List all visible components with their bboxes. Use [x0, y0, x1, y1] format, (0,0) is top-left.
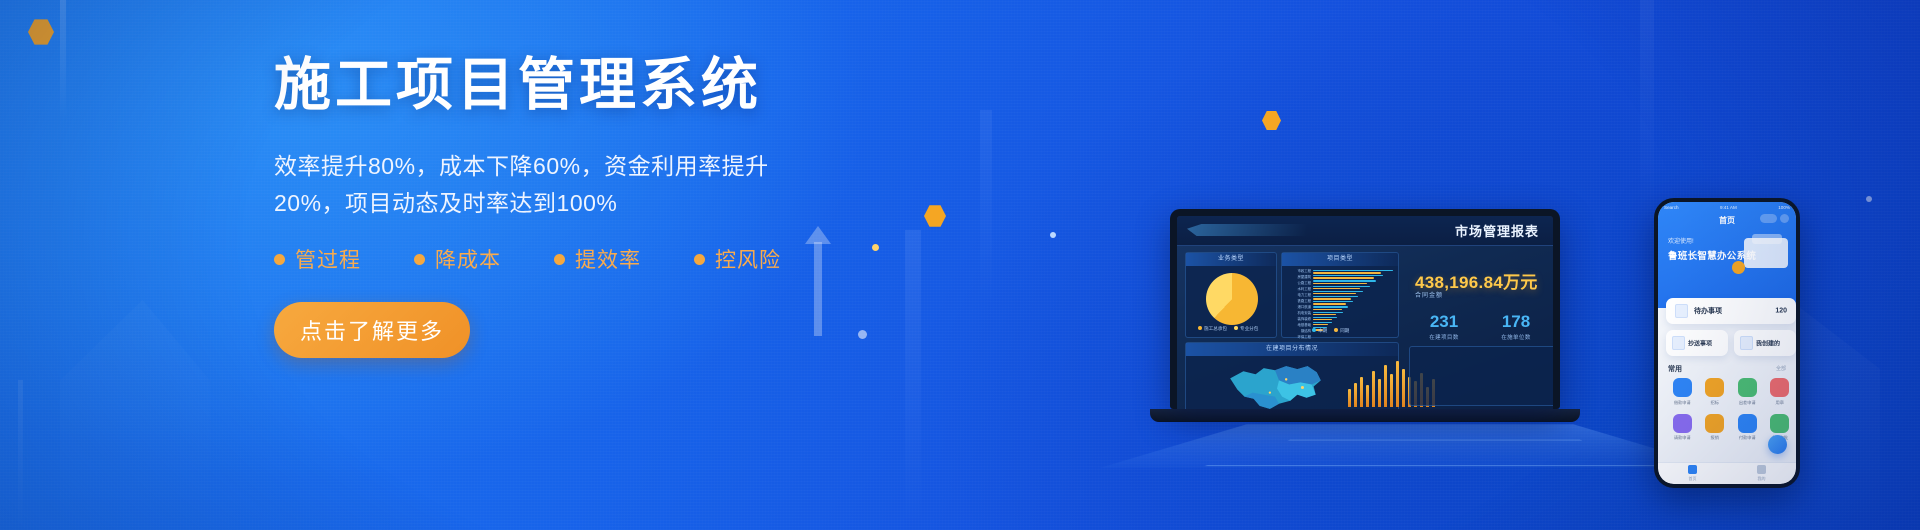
- page-title: 施工项目管理系统: [274, 54, 894, 118]
- deco-bar: [18, 380, 23, 530]
- hbar-category-label: 电力工程: [1285, 294, 1311, 298]
- plus-doc-icon: [1740, 336, 1753, 350]
- compose-fab-button[interactable]: [1768, 435, 1787, 454]
- vbar: [1390, 374, 1393, 407]
- vbar: [1354, 383, 1357, 407]
- hbar-row: [1313, 312, 1393, 316]
- app-icon: [1705, 414, 1724, 433]
- panel-business-type: 业务类型 施工总承包 专业分包: [1185, 252, 1277, 338]
- bullet-dot-icon: [554, 254, 565, 265]
- learn-more-button[interactable]: 点击了解更多: [274, 302, 470, 358]
- quick-card-label: 抄送事项: [1688, 339, 1712, 348]
- tab-label: 首页: [1689, 476, 1697, 482]
- panel-project-type: 项目类型 市政工程房屋建筑公路工程水利工程电力工程铁路工程港口航道机电安装装饰装…: [1281, 252, 1399, 338]
- dashboard-title: 市场管理报表: [1455, 221, 1539, 240]
- dashboard: 市场管理报表 业务类型 施工总承包 专业分包 项目类型 市政工程房屋建筑公路工程…: [1177, 216, 1553, 409]
- quick-card-cc[interactable]: 抄送事项: [1666, 330, 1728, 356]
- vbar: [1384, 365, 1387, 407]
- app-item[interactable]: 报销: [1699, 414, 1732, 442]
- vbar: [1396, 361, 1399, 407]
- phone-illustration: [1732, 234, 1788, 276]
- quick-card-label: 我创建的: [1756, 339, 1780, 348]
- app-label: 请款申请: [1674, 435, 1691, 441]
- hbar-row: [1313, 291, 1393, 295]
- deco-cube: [60, 300, 210, 530]
- deco-hexagon: [924, 204, 946, 228]
- phone-mockup: Search 9:41 AM 100% 首页 欢迎使用! 鲁班长智慧办公系统 待…: [1654, 198, 1800, 488]
- kpi-item: 231 在建项目数: [1413, 312, 1475, 341]
- hbar-row: [1313, 275, 1393, 279]
- pie-chart: [1206, 273, 1258, 325]
- feature-item: 控风险: [694, 244, 834, 274]
- hbar-row: [1313, 286, 1393, 290]
- hbar-category-label: 公路工程: [1285, 282, 1311, 286]
- device-stage: 市场管理报表 业务类型 施工总承包 专业分包 项目类型 市政工程房屋建筑公路工程…: [1160, 88, 1800, 508]
- hbar-row: [1313, 301, 1393, 305]
- vbar: [1366, 385, 1369, 407]
- app-label: 出差申请: [1739, 400, 1756, 406]
- feature-label: 管过程: [295, 244, 361, 274]
- app-icon: [1738, 378, 1757, 397]
- deco-bar: [980, 110, 992, 310]
- hbar-row: [1313, 322, 1393, 326]
- hbar-category-label: 机电安装: [1285, 312, 1311, 316]
- todo-card[interactable]: 待办事项 120: [1666, 298, 1796, 324]
- kpi-value: 231: [1413, 312, 1475, 332]
- kpi-label: 在施单位数: [1485, 333, 1547, 341]
- app-icon: [1673, 378, 1692, 397]
- legend-item: 专业分包: [1234, 326, 1258, 332]
- feature-item: 降成本: [414, 244, 554, 274]
- hbar-category-label: 市政工程: [1285, 270, 1311, 274]
- feature-label: 降成本: [435, 244, 501, 274]
- hbar-row: [1313, 270, 1393, 274]
- app-item[interactable]: 用章: [1764, 378, 1797, 406]
- bullet-dot-icon: [694, 254, 705, 265]
- vbar: [1402, 369, 1405, 407]
- laptop-mockup: 市场管理报表 业务类型 施工总承包 专业分包 项目类型 市政工程房屋建筑公路工程…: [1170, 209, 1560, 422]
- hero-content: 施工项目管理系统 效率提升80%，成本下降60%，资金利用率提升20%，项目动态…: [274, 54, 894, 358]
- pie-legend: 施工总承包 专业分包: [1198, 326, 1258, 332]
- panel-title: 在建项目分布情况: [1186, 343, 1398, 356]
- app-grid: 借款申请招标出差申请用章请款申请报销付款申请合同审批: [1666, 378, 1796, 441]
- kpi-label: 在建项目数: [1413, 333, 1475, 341]
- app-label: 报销: [1711, 435, 1719, 441]
- tab-home[interactable]: 首页: [1688, 465, 1697, 482]
- hbar-category-label: 铁路工程: [1285, 300, 1311, 304]
- phone-welcome: 欢迎使用!: [1668, 236, 1694, 245]
- hbar-category-labels: 市政工程房屋建筑公路工程水利工程电力工程铁路工程港口航道机电安装装饰装修地基基础…: [1285, 270, 1311, 339]
- hero-banner: 施工项目管理系统 效率提升80%，成本下降60%，资金利用率提升20%，项目动态…: [0, 0, 1920, 530]
- status-carrier: Search: [1664, 205, 1679, 210]
- app-icon: [1738, 414, 1757, 433]
- bullet-dot-icon: [414, 254, 425, 265]
- hbar-category-label: 房屋建筑: [1285, 276, 1311, 280]
- phone-screen: Search 9:41 AM 100% 首页 欢迎使用! 鲁班长智慧办公系统 待…: [1658, 202, 1796, 484]
- home-icon: [1688, 465, 1697, 474]
- app-item[interactable]: 付款申请: [1731, 414, 1764, 442]
- section-title: 常用: [1668, 364, 1682, 374]
- more-icon[interactable]: [1760, 214, 1777, 223]
- china-map-svg: [1212, 359, 1342, 409]
- tab-profile[interactable]: 我的: [1757, 465, 1766, 482]
- app-icon: [1673, 414, 1692, 433]
- app-label: 招标: [1711, 400, 1719, 406]
- app-item[interactable]: 借款申请: [1666, 378, 1699, 406]
- feature-label: 控风险: [715, 244, 781, 274]
- tab-label: 我的: [1758, 476, 1766, 482]
- feature-list: 管过程 降成本 提效率 控风险: [274, 244, 894, 274]
- status-battery: 100%: [1778, 205, 1790, 210]
- hbar-category-label: 地基基础: [1285, 324, 1311, 328]
- deco-bar: [905, 230, 921, 530]
- panel-misc: [1409, 346, 1557, 406]
- legend-item: 本期: [1312, 328, 1327, 334]
- hero-subtitle: 效率提升80%，成本下降60%，资金利用率提升20%，项目动态及时率达到100%: [274, 148, 804, 223]
- app-item[interactable]: 请款申请: [1666, 414, 1699, 442]
- laptop-screen: 市场管理报表 业务类型 施工总承包 专业分包 项目类型 市政工程房屋建筑公路工程…: [1170, 209, 1560, 409]
- dashboard-header-deco: [1187, 224, 1307, 236]
- deco-dot: [1866, 196, 1872, 202]
- kpi-item: 178 在施单位数: [1485, 312, 1547, 341]
- vbar: [1378, 379, 1381, 407]
- app-icon: [1705, 378, 1724, 397]
- close-icon[interactable]: [1780, 214, 1789, 223]
- user-icon: [1757, 465, 1766, 474]
- china-map: [1212, 359, 1342, 409]
- phone-status-bar: Search 9:41 AM 100%: [1664, 205, 1790, 210]
- feature-item: 管过程: [274, 244, 414, 274]
- phone-tab-bar[interactable]: 首页 我的: [1658, 462, 1796, 484]
- laptop-base: [1150, 409, 1580, 422]
- panel-title: 项目类型: [1282, 253, 1398, 266]
- hbar-row: [1313, 280, 1393, 284]
- hbar-row: [1313, 296, 1393, 300]
- app-icon: [1770, 378, 1789, 397]
- app-label: 用章: [1776, 400, 1784, 406]
- vbar: [1360, 377, 1363, 407]
- vbar: [1348, 389, 1351, 407]
- vbar: [1372, 371, 1375, 407]
- hbar-row: [1313, 306, 1393, 310]
- app-label: 借款申请: [1674, 400, 1691, 406]
- feature-item: 提效率: [554, 244, 694, 274]
- panel-title: 业务类型: [1186, 253, 1276, 266]
- hbar-category-label: 水利工程: [1285, 288, 1311, 292]
- deco-hexagon: [28, 18, 54, 46]
- legend-item: 同期: [1334, 328, 1349, 334]
- hbar-category-label: 港口航道: [1285, 306, 1311, 310]
- app-icon: [1770, 414, 1789, 433]
- deco-dot: [1050, 232, 1056, 238]
- app-label: 付款申请: [1739, 435, 1756, 441]
- quick-card-created[interactable]: 我创建的: [1734, 330, 1796, 356]
- feature-label: 提效率: [575, 244, 641, 274]
- todo-label: 待办事项: [1694, 306, 1722, 316]
- legend-item: 施工总承包: [1198, 326, 1227, 332]
- todo-count: 120: [1775, 308, 1787, 315]
- bullet-dot-icon: [274, 254, 285, 265]
- headline-caption: 合同金额: [1415, 290, 1443, 299]
- panel-project-distribution: 在建项目分布情况: [1185, 342, 1399, 409]
- hbar-category-label: 钢结构: [1285, 330, 1311, 334]
- section-more-link[interactable]: 全部: [1776, 365, 1786, 372]
- deco-bar: [60, 0, 66, 120]
- document-clock-icon: [1675, 304, 1688, 318]
- hbar-category-label: 装饰装修: [1285, 318, 1311, 322]
- hbar-row: [1313, 317, 1393, 321]
- kpi-value: 178: [1485, 312, 1547, 332]
- status-time: 9:41 AM: [1720, 205, 1737, 210]
- phone-nav-buttons[interactable]: [1760, 214, 1789, 223]
- hbar-legend: 本期 同期: [1312, 328, 1349, 334]
- hbar-chart: [1313, 270, 1393, 331]
- app-item[interactable]: 招标: [1699, 378, 1732, 406]
- send-icon: [1672, 336, 1685, 350]
- app-item[interactable]: 出差申请: [1731, 378, 1764, 406]
- hbar-category-label: 环保工程: [1285, 336, 1311, 340]
